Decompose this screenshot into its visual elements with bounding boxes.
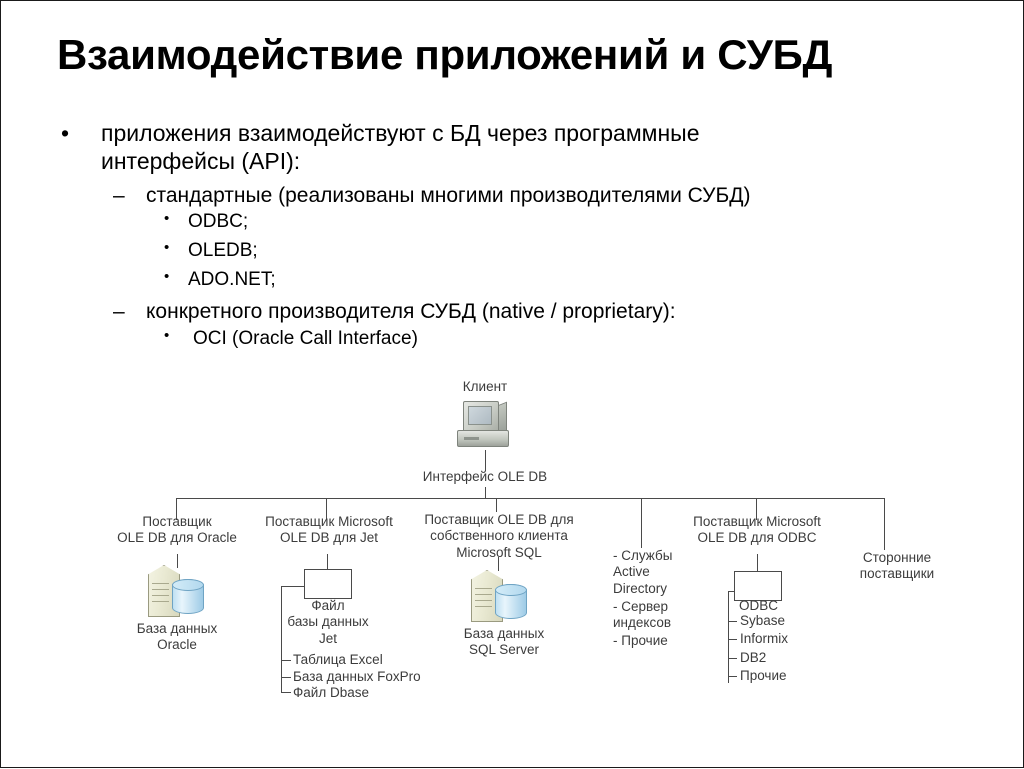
bullet-text: конкретного производителя СУБД (native /… xyxy=(146,299,676,324)
architecture-diagram: Клиент Интерфейс OLE DB Поставщик OLE DB… xyxy=(1,1,1024,769)
provider-title-oracle: Поставщик OLE DB для Oracle xyxy=(97,514,257,547)
odbc-box xyxy=(734,571,782,601)
db-label-sql: База данных SQL Server xyxy=(439,626,569,659)
page-title: Взаимодействие приложений и СУБД xyxy=(57,31,969,78)
odbc-tree-tick xyxy=(728,676,737,677)
jet-tree-tick xyxy=(281,660,291,661)
slide-canvas: Взаимодействие приложений и СУБД • прило… xyxy=(0,0,1024,768)
odbc-tree-spine xyxy=(728,591,729,683)
connector-odbc-to-box xyxy=(757,554,758,572)
bullet-level3-item: • ODBC; xyxy=(164,211,248,234)
jet-tree-stem xyxy=(281,586,305,587)
interface-label: Интерфейс OLE DB xyxy=(397,469,573,485)
bullet-marker: – xyxy=(113,183,125,208)
jet-child-label: База данных FoxPro xyxy=(293,669,463,685)
odbc-child-label: Sybase xyxy=(740,613,850,629)
bullet-level3-item: • OLEDB; xyxy=(164,240,258,263)
bullet-marker: • xyxy=(164,210,169,228)
jet-tree-tick xyxy=(281,692,291,693)
bullet-marker: – xyxy=(113,299,125,324)
jet-tree-tick xyxy=(281,677,291,678)
connector-jet-to-box xyxy=(327,554,328,570)
bus-drop-sql xyxy=(496,498,497,512)
services-item: - Прочие xyxy=(613,633,703,649)
bullet-level2-item: – конкретного производителя СУБД (native… xyxy=(113,299,676,324)
jet-child-label: Файл Dbase xyxy=(293,685,453,701)
provider-title-jet: Поставщик Microsoft OLE DB для Jet xyxy=(243,514,415,547)
box-label-jet: Файл базы данных Jet xyxy=(269,598,387,647)
sql-server-database-icon xyxy=(467,568,533,626)
bullet-marker: • xyxy=(164,327,169,345)
jet-file-box xyxy=(304,569,352,599)
client-label: Клиент xyxy=(431,379,539,395)
services-item: - Службы Active Directory xyxy=(613,548,703,597)
bus-drop-thirdparty xyxy=(884,498,885,550)
provider-title-thirdparty: Сторонние поставщики xyxy=(841,550,953,583)
bullet-text: OLEDB; xyxy=(188,240,258,263)
odbc-child-label: DB2 xyxy=(740,650,850,666)
bullet-text: стандартные (реализованы многими произво… xyxy=(146,183,750,208)
bullet-text: ADO.NET; xyxy=(188,269,276,292)
bullet-marker: • xyxy=(164,239,169,257)
connector-client-to-interface xyxy=(485,450,486,471)
db-label-oracle: База данных Oracle xyxy=(117,621,237,654)
services-item: - Сервер индексов xyxy=(613,599,703,632)
bullet-text: ODBC; xyxy=(188,211,248,234)
bullet-level1-item: • приложения взаимодействуют с БД через … xyxy=(61,119,801,175)
oracle-database-icon xyxy=(144,563,210,621)
odbc-child-label: Informix xyxy=(740,631,850,647)
bus-drop-services xyxy=(641,498,642,548)
odbc-tree-tick xyxy=(728,658,737,659)
bullet-level3-item: • ADO.NET; xyxy=(164,269,276,292)
bullet-text: приложения взаимодействуют с БД через пр… xyxy=(101,119,801,175)
provider-title-odbc: Поставщик Microsoft OLE DB для ODBC xyxy=(671,514,843,547)
bullet-marker: • xyxy=(61,119,69,147)
bullet-text: OCI (Oracle Call Interface) xyxy=(193,328,418,351)
bus-line xyxy=(176,498,885,499)
bullet-level2-item: – стандартные (реализованы многими произ… xyxy=(113,183,750,208)
bullet-level3-item: • OCI (Oracle Call Interface) xyxy=(164,328,418,351)
odbc-tree-tick xyxy=(728,621,737,622)
client-computer-icon xyxy=(457,401,513,451)
provider-title-sql: Поставщик OLE DB для собственного клиент… xyxy=(409,512,589,561)
box-label-odbc: ODBC xyxy=(739,598,819,614)
bullet-marker: • xyxy=(164,268,169,286)
odbc-tree-stem xyxy=(728,591,735,592)
odbc-child-label: Прочие xyxy=(740,668,850,684)
odbc-tree-tick xyxy=(728,639,737,640)
jet-child-label: Таблица Excel xyxy=(293,652,453,668)
